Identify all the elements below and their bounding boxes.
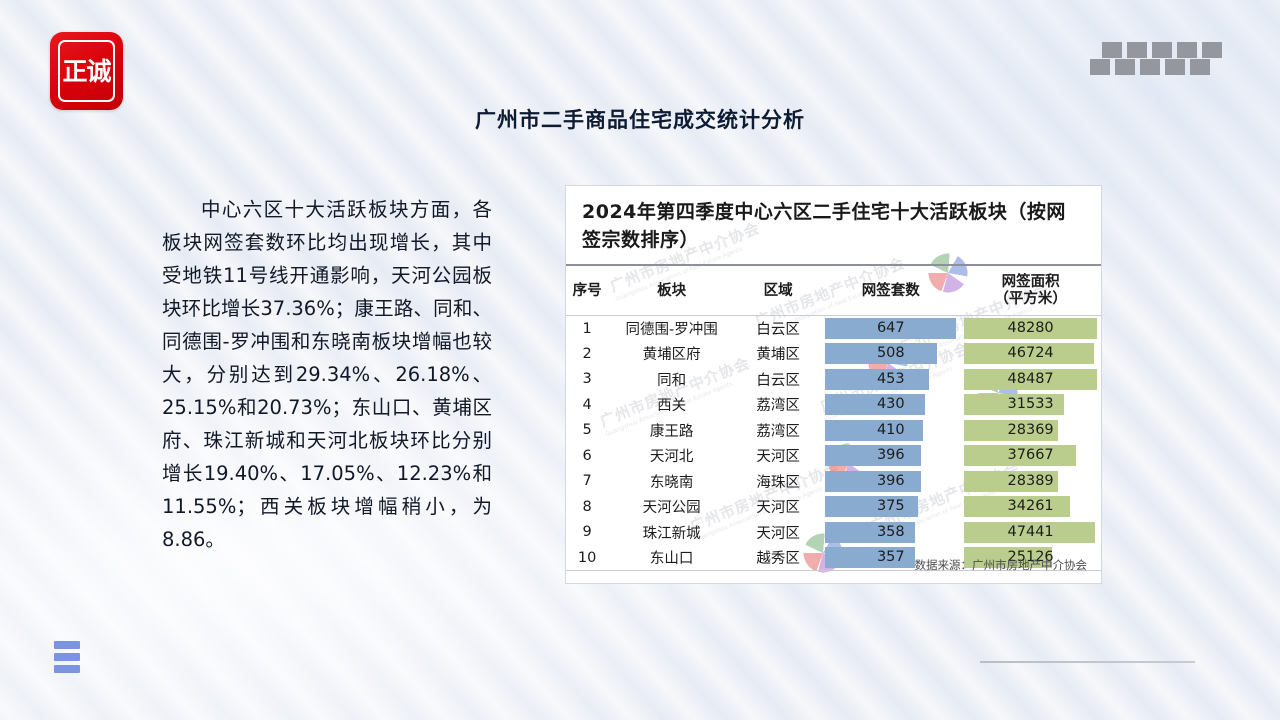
cell-plate: 天河公园 xyxy=(608,494,735,520)
cell-district: 天河区 xyxy=(735,443,821,469)
active-plates-table: 序号 板块 区域 网签套数 网签面积 （平方米） 1同德围-罗冲围白云区6474… xyxy=(566,264,1101,571)
cell-area: 48280 xyxy=(960,316,1101,342)
menu-icon-bar xyxy=(54,641,80,649)
data-bar-value: 410 xyxy=(825,420,956,441)
data-bar-wrapper: 396 xyxy=(825,445,956,466)
table-row: 8天河公园天河区37534261 xyxy=(566,494,1101,520)
cell-rank: 10 xyxy=(566,545,608,571)
cell-rank: 5 xyxy=(566,418,608,444)
data-bar-wrapper: 47441 xyxy=(964,522,1097,543)
table-row: 9珠江新城天河区35847441 xyxy=(566,520,1101,546)
figure-source-note: 数据来源：广州市房地产中介协会 xyxy=(915,557,1088,573)
figure-header: 2024年第四季度中心六区二手住宅十大活跃板块（按网签宗数排序） xyxy=(566,186,1101,260)
data-bar-wrapper: 508 xyxy=(825,343,956,364)
column-header-plate: 板块 xyxy=(608,265,735,316)
cell-plate: 珠江新城 xyxy=(608,520,735,546)
cell-plate: 黄埔区府 xyxy=(608,341,735,367)
cell-rank: 6 xyxy=(566,443,608,469)
table-row: 3同和白云区45348487 xyxy=(566,367,1101,393)
cell-plate: 天河北 xyxy=(608,443,735,469)
data-bar-wrapper: 396 xyxy=(825,471,956,492)
data-bar-value: 375 xyxy=(825,496,956,517)
checker-square xyxy=(1102,42,1122,58)
data-bar-wrapper: 37667 xyxy=(964,445,1097,466)
column-header-area-line2: （平方米） xyxy=(994,291,1067,307)
table-body: 1同德围-罗冲围白云区647482802黄埔区府黄埔区508467243同和白云… xyxy=(566,316,1101,571)
table-row: 4西关荔湾区43031533 xyxy=(566,392,1101,418)
cell-district: 海珠区 xyxy=(735,469,821,495)
cell-rank: 8 xyxy=(566,494,608,520)
data-bar-value: 508 xyxy=(825,343,956,364)
data-bar-value: 396 xyxy=(825,471,956,492)
table-header-row: 序号 板块 区域 网签套数 网签面积 （平方米） xyxy=(566,265,1101,316)
table-row: 6天河北天河区39637667 xyxy=(566,443,1101,469)
checker-square xyxy=(1140,59,1160,75)
data-bar-value: 396 xyxy=(825,445,956,466)
checker-square xyxy=(1090,59,1110,75)
data-bar-wrapper: 453 xyxy=(825,369,956,390)
cell-district: 荔湾区 xyxy=(735,418,821,444)
cell-deals: 375 xyxy=(821,494,960,520)
table-header: 序号 板块 区域 网签套数 网签面积 （平方米） xyxy=(566,265,1101,316)
cell-plate: 东山口 xyxy=(608,545,735,571)
cell-deals: 453 xyxy=(821,367,960,393)
cell-rank: 9 xyxy=(566,520,608,546)
data-bar-value: 358 xyxy=(825,522,956,543)
checker-decoration xyxy=(1090,42,1220,76)
data-bar-value: 453 xyxy=(825,369,956,390)
cell-rank: 4 xyxy=(566,392,608,418)
menu-icon-bar xyxy=(54,665,80,673)
cell-plate: 同和 xyxy=(608,367,735,393)
bottom-rule-divider xyxy=(980,661,1195,663)
table-row: 1同德围-罗冲围白云区64748280 xyxy=(566,316,1101,342)
cell-district: 越秀区 xyxy=(735,545,821,571)
column-header-area: 网签面积 （平方米） xyxy=(960,265,1101,316)
table-figure-image: 广州市房地产中介协会Guangzhou Association of Real … xyxy=(565,185,1102,584)
cell-deals: 430 xyxy=(821,392,960,418)
cell-district: 天河区 xyxy=(735,494,821,520)
cell-area: 47441 xyxy=(960,520,1101,546)
data-bar-value: 37667 xyxy=(964,445,1097,466)
cell-deals: 410 xyxy=(821,418,960,444)
checker-square xyxy=(1152,42,1172,58)
cell-area: 28369 xyxy=(960,418,1101,444)
checker-square xyxy=(1177,42,1197,58)
column-header-deals: 网签套数 xyxy=(821,265,960,316)
brand-logo: 正诚 xyxy=(50,32,123,110)
data-bar-wrapper: 34261 xyxy=(964,496,1097,517)
cell-plate: 康王路 xyxy=(608,418,735,444)
cell-district: 白云区 xyxy=(735,316,821,342)
checker-square xyxy=(1127,42,1147,58)
page-title: 广州市二手商品住宅成交统计分析 xyxy=(0,104,1280,134)
brand-logo-text: 正诚 xyxy=(58,40,115,102)
checker-square xyxy=(1190,59,1210,75)
cell-area: 46724 xyxy=(960,341,1101,367)
cell-rank: 1 xyxy=(566,316,608,342)
data-bar-wrapper: 28389 xyxy=(964,471,1097,492)
column-header-district: 区域 xyxy=(735,265,821,316)
data-bar-value: 47441 xyxy=(964,522,1097,543)
data-bar-wrapper: 430 xyxy=(825,394,956,415)
cell-district: 天河区 xyxy=(735,520,821,546)
cell-deals: 358 xyxy=(821,520,960,546)
cell-area: 28389 xyxy=(960,469,1101,495)
checker-square xyxy=(1165,59,1185,75)
table-row: 7东晓南海珠区39628389 xyxy=(566,469,1101,495)
data-bar-value: 28389 xyxy=(964,471,1097,492)
cell-deals: 508 xyxy=(821,341,960,367)
column-header-area-line1: 网签面积 xyxy=(1002,274,1060,290)
data-bar-wrapper: 46724 xyxy=(964,343,1097,364)
data-bar-value: 31533 xyxy=(964,394,1097,415)
cell-area: 37667 xyxy=(960,443,1101,469)
data-bar-value: 48280 xyxy=(964,318,1097,339)
data-bar-wrapper: 48487 xyxy=(964,369,1097,390)
menu-icon-bar xyxy=(54,653,80,661)
checker-square xyxy=(1115,59,1135,75)
menu-icon[interactable] xyxy=(54,641,82,673)
cell-area: 34261 xyxy=(960,494,1101,520)
data-bar-value: 28369 xyxy=(964,420,1097,441)
cell-deals: 396 xyxy=(821,443,960,469)
data-bar-wrapper: 48280 xyxy=(964,318,1097,339)
figure-title: 2024年第四季度中心六区二手住宅十大活跃板块（按网签宗数排序） xyxy=(582,198,1085,254)
cell-deals: 396 xyxy=(821,469,960,495)
cell-area: 48487 xyxy=(960,367,1101,393)
data-bar-wrapper: 31533 xyxy=(964,394,1097,415)
cell-deals: 647 xyxy=(821,316,960,342)
data-bar-value: 46724 xyxy=(964,343,1097,364)
cell-district: 白云区 xyxy=(735,367,821,393)
column-header-rank: 序号 xyxy=(566,265,608,316)
cell-district: 荔湾区 xyxy=(735,392,821,418)
data-bar-wrapper: 28369 xyxy=(964,420,1097,441)
cell-district: 黄埔区 xyxy=(735,341,821,367)
data-bar-wrapper: 375 xyxy=(825,496,956,517)
data-bar-value: 430 xyxy=(825,394,956,415)
cell-plate: 东晓南 xyxy=(608,469,735,495)
table-row: 2黄埔区府黄埔区50846724 xyxy=(566,341,1101,367)
cell-rank: 3 xyxy=(566,367,608,393)
checker-square xyxy=(1202,42,1222,58)
table-row: 5康王路荔湾区41028369 xyxy=(566,418,1101,444)
data-bar-value: 647 xyxy=(825,318,956,339)
cell-plate: 西关 xyxy=(608,392,735,418)
cell-area: 31533 xyxy=(960,392,1101,418)
body-paragraph: 中心六区十大活跃板块方面，各板块网签套数环比均出现增长，其中受地铁11号线开通影… xyxy=(162,193,492,556)
data-bar-value: 34261 xyxy=(964,496,1097,517)
data-bar-wrapper: 647 xyxy=(825,318,956,339)
data-bar-wrapper: 410 xyxy=(825,420,956,441)
cell-rank: 2 xyxy=(566,341,608,367)
cell-plate: 同德围-罗冲围 xyxy=(608,316,735,342)
cell-rank: 7 xyxy=(566,469,608,495)
data-bar-wrapper: 358 xyxy=(825,522,956,543)
data-bar-value: 48487 xyxy=(964,369,1097,390)
slide-canvas: 正诚 广州市二手商品住宅成交统计分析 中心六区十大活跃板块方面，各板块网签套数环… xyxy=(0,0,1280,720)
